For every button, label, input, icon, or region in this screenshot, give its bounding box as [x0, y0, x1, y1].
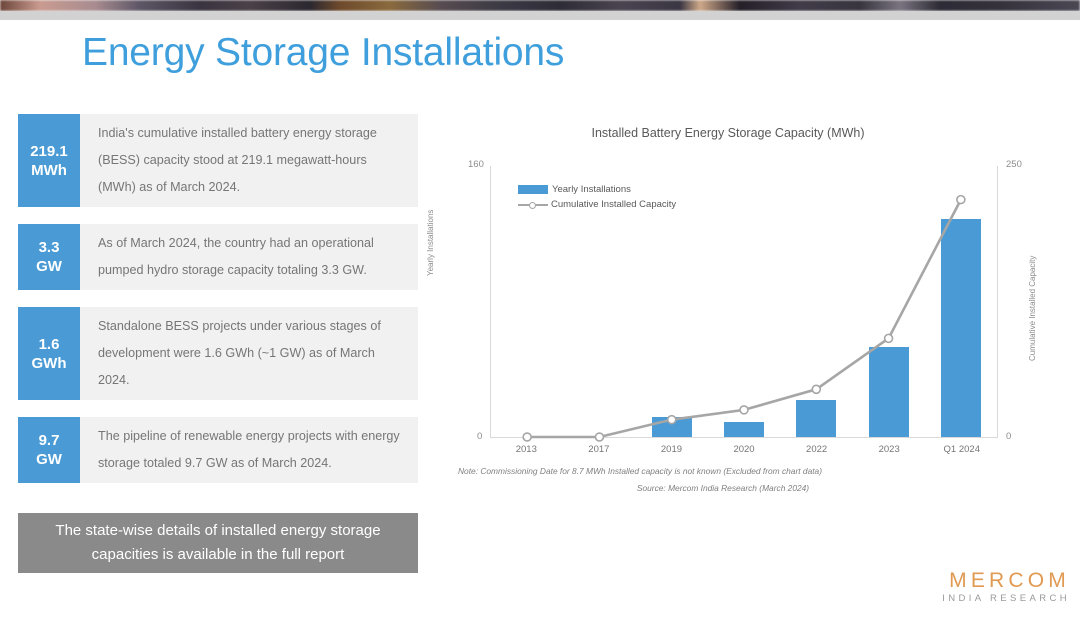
line-marker	[595, 433, 603, 441]
stat-description: As of March 2024, the country had an ope…	[80, 224, 418, 290]
line-marker	[740, 406, 748, 414]
x-axis-label: 2022	[780, 444, 853, 455]
decorative-photo-strip	[0, 0, 1080, 11]
legend-swatch-icon	[518, 185, 548, 194]
y-axis-max-label: 160	[468, 159, 484, 170]
stat-value: 1.6	[39, 335, 60, 354]
x-axis-label: 2020	[708, 444, 781, 455]
list-item: 1.6 GWh Standalone BESS projects under v…	[18, 307, 418, 400]
y2-axis-min-label: 0	[1006, 431, 1011, 442]
y2-axis-title: Cumulative Installed Capacity	[1028, 256, 1037, 361]
stat-unit: GW	[36, 450, 62, 469]
x-axis-label: 2023	[853, 444, 926, 455]
stat-value: 3.3	[39, 238, 60, 257]
chart-source: Source: Mercom India Research (March 202…	[428, 483, 1018, 493]
stat-unit: MWh	[31, 161, 67, 180]
full-report-callout: The state-wise details of installed ener…	[18, 513, 418, 573]
stat-key-badge: 9.7 GW	[18, 417, 80, 483]
chart-note: Note: Commissioning Date for 8.7 MWh Ins…	[458, 466, 822, 476]
list-item: 9.7 GW The pipeline of renewable energy …	[18, 417, 418, 483]
stat-description: Standalone BESS projects under various s…	[80, 307, 418, 400]
stat-description: India's cumulative installed battery ene…	[80, 114, 418, 207]
chart-legend: Yearly Installations Cumulative Installe…	[518, 184, 676, 214]
chart-title: Installed Battery Energy Storage Capacit…	[428, 126, 1028, 140]
stat-key-badge: 1.6 GWh	[18, 307, 80, 400]
legend-item-line: Cumulative Installed Capacity	[518, 199, 676, 210]
legend-label: Yearly Installations	[552, 184, 631, 195]
decorative-gray-band	[0, 11, 1080, 20]
logo-tagline: INDIA RESEARCH	[930, 592, 1070, 605]
legend-item-bar: Yearly Installations	[518, 184, 676, 195]
legend-line-marker-icon	[518, 200, 548, 209]
stat-value: 9.7	[39, 431, 60, 450]
list-item: 219.1 MWh India's cumulative installed b…	[18, 114, 418, 207]
stat-key-badge: 3.3 GW	[18, 224, 80, 290]
x-axis-labels: 201320172019202020222023Q1 2024	[490, 444, 998, 455]
stats-list: 219.1 MWh India's cumulative installed b…	[18, 114, 418, 500]
y2-axis-max-label: 250	[1006, 159, 1022, 170]
stat-unit: GWh	[32, 354, 67, 373]
x-axis-label: 2017	[563, 444, 636, 455]
stat-key-badge: 219.1 MWh	[18, 114, 80, 207]
stat-unit: GW	[36, 257, 62, 276]
line-marker	[885, 334, 893, 342]
x-axis-label: 2013	[490, 444, 563, 455]
mercom-logo: MERCOM INDIA RESEARCH	[930, 570, 1070, 605]
y-axis-title: Yearly Installations	[426, 210, 435, 276]
stat-value: 219.1	[30, 142, 68, 161]
legend-label: Cumulative Installed Capacity	[551, 199, 676, 210]
line-marker	[957, 196, 965, 204]
x-axis-label: 2019	[635, 444, 708, 455]
x-axis-label: Q1 2024	[925, 444, 998, 455]
list-item: 3.3 GW As of March 2024, the country had…	[18, 224, 418, 290]
line-path	[527, 200, 961, 437]
page-title: Energy Storage Installations	[82, 31, 564, 75]
y-axis-min-label: 0	[477, 431, 482, 442]
line-marker	[668, 416, 676, 424]
line-marker	[523, 433, 531, 441]
chart-container: Installed Battery Energy Storage Capacit…	[428, 126, 1058, 506]
line-marker	[812, 385, 820, 393]
stat-description: The pipeline of renewable energy project…	[80, 417, 418, 483]
logo-wordmark: MERCOM	[930, 570, 1070, 592]
